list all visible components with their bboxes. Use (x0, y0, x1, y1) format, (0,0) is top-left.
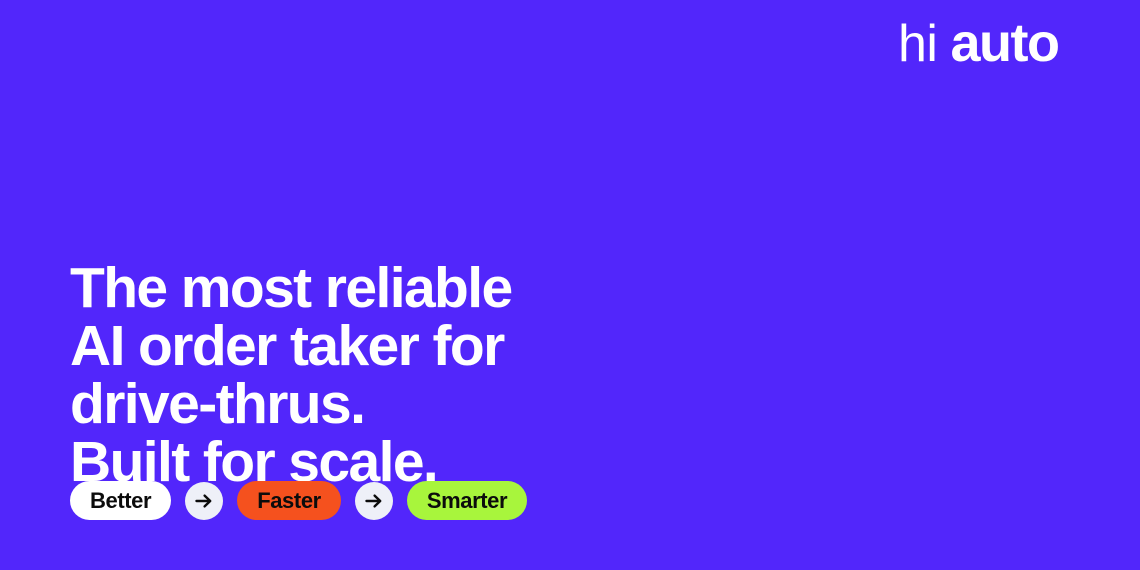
benefit-pill-row: Better Faster Smarter (70, 481, 527, 520)
arrow-right-icon (355, 482, 393, 520)
pill-better[interactable]: Better (70, 481, 171, 520)
pill-faster-label: Faster (257, 488, 321, 514)
headline-line-1: The most reliable (70, 259, 512, 317)
brand-logo-hi: hi (898, 18, 937, 70)
pill-faster[interactable]: Faster (237, 481, 341, 520)
brand-logo[interactable]: hi auto (898, 16, 1058, 70)
pill-smarter-label: Smarter (427, 488, 507, 514)
headline-line-2: AI order taker for (70, 317, 512, 375)
headline: The most reliable AI order taker for dri… (70, 259, 512, 491)
brand-logo-auto: auto (950, 16, 1058, 70)
pill-smarter[interactable]: Smarter (407, 481, 527, 520)
headline-line-3: drive-thrus. (70, 375, 512, 433)
pill-better-label: Better (90, 488, 151, 514)
arrow-right-icon (185, 482, 223, 520)
promo-banner: hi auto The most reliable AI order taker… (0, 0, 1140, 570)
